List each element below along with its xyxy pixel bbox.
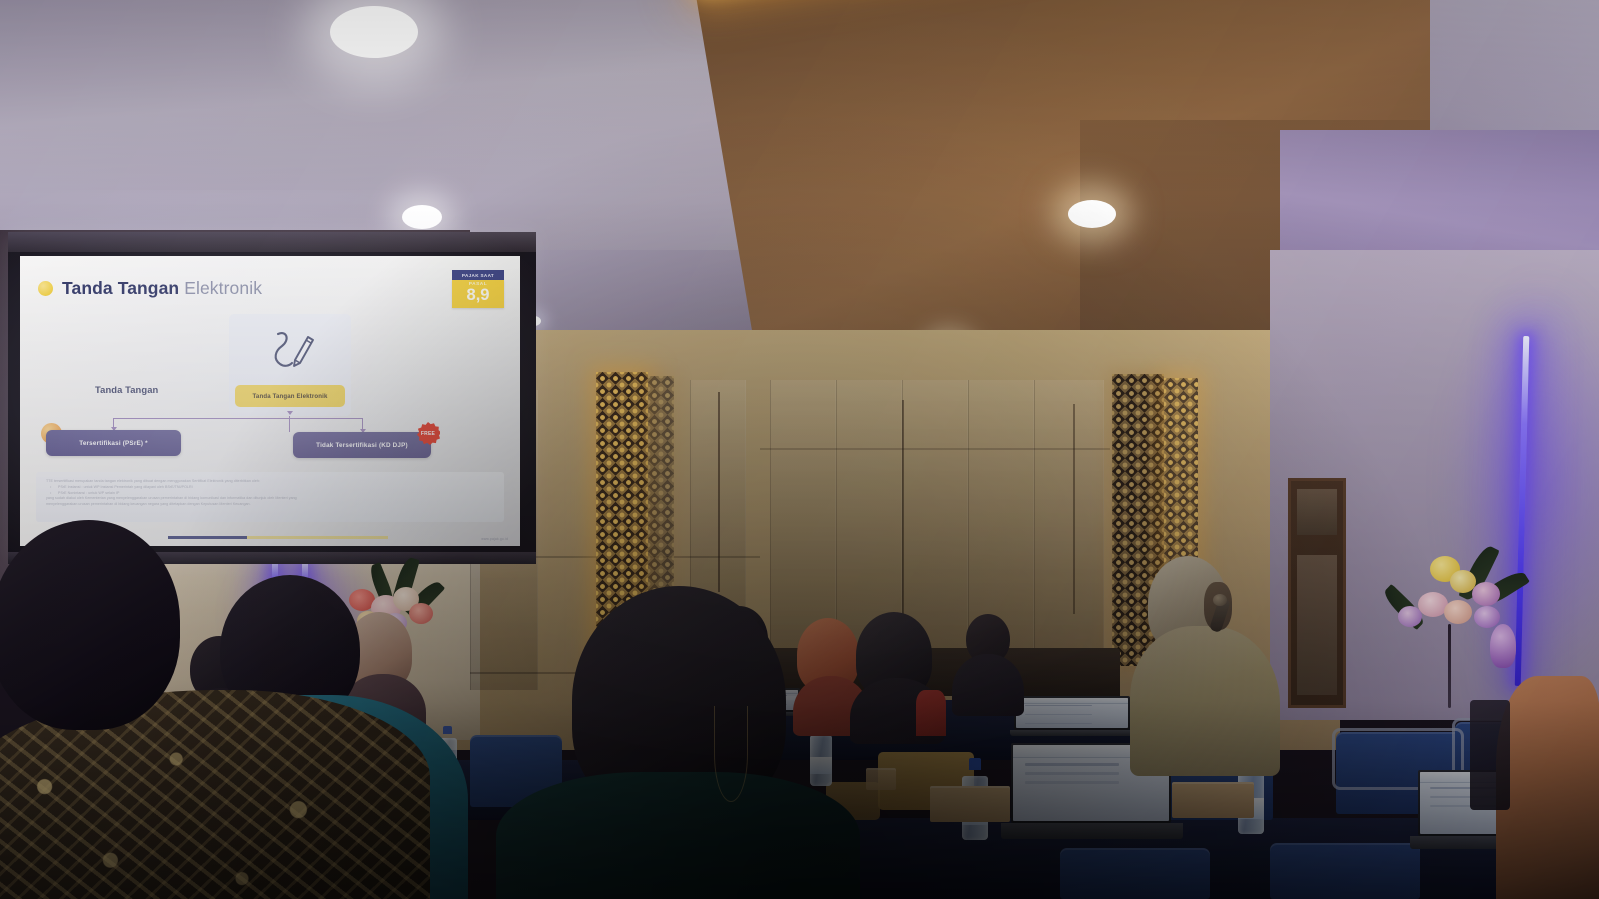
snack-box[interactable] bbox=[866, 768, 896, 790]
photographer-phone bbox=[1470, 700, 1510, 810]
slide-title: Tanda Tangan Elektronik bbox=[62, 278, 262, 299]
badge-top-label: PAJAK SAAT bbox=[452, 270, 504, 280]
laptop-base bbox=[1010, 730, 1134, 736]
screen-housing-top bbox=[8, 232, 536, 252]
laptop-back[interactable] bbox=[1014, 696, 1130, 736]
laptop-base bbox=[1001, 823, 1183, 839]
chair-blue[interactable] bbox=[1270, 843, 1420, 899]
laptop-lid bbox=[1014, 696, 1130, 730]
slide-badge: PAJAK SAAT PASAL 8,9 bbox=[452, 270, 504, 308]
branch-label: Tanda Tangan bbox=[95, 384, 158, 395]
signature-pen-icon bbox=[262, 326, 318, 378]
necklace-detail bbox=[714, 706, 748, 802]
slide-title-row: Tanda Tangan Elektronik bbox=[38, 278, 262, 299]
footnote-line: menyelenggarakan urusan pemerintahan di … bbox=[46, 502, 494, 508]
door-upper-glass bbox=[1297, 489, 1337, 535]
pendant-wire bbox=[1073, 404, 1075, 614]
flower-bloom bbox=[1490, 624, 1516, 668]
signature-card: Tanda Tangan Elektronik bbox=[229, 314, 351, 416]
wooden-door[interactable] bbox=[1288, 478, 1346, 708]
node-tidak-tersertifikasi: Tidak Tersertifikasi (KD DJP) bbox=[293, 432, 431, 458]
slide-title-bold: Tanda Tangan bbox=[62, 278, 179, 298]
seminar-room-photo: Tanda Tangan Elektronik PAJAK SAAT PASAL… bbox=[0, 0, 1599, 899]
flower-bloom bbox=[1398, 606, 1422, 627]
attendee-black-hijab-front bbox=[496, 586, 860, 899]
attendee-body bbox=[496, 772, 860, 899]
bottle-cap bbox=[969, 758, 981, 770]
flower-stem bbox=[1448, 624, 1451, 708]
attendee-head bbox=[0, 520, 180, 730]
speaker-presenter bbox=[1130, 556, 1290, 776]
flower-arrangement-right bbox=[1378, 540, 1528, 710]
wall-panel-seam bbox=[1034, 380, 1104, 660]
snack-box[interactable] bbox=[930, 786, 1010, 822]
progress-yellow-segment bbox=[247, 536, 388, 539]
chair-blue[interactable] bbox=[1060, 848, 1210, 899]
snack-box[interactable] bbox=[1172, 782, 1254, 818]
badge-number: 8,9 bbox=[452, 287, 504, 304]
yellow-bullet-icon bbox=[38, 281, 53, 296]
footnote-bullet: PSrE Nonintansi : untuk WP selain IP bbox=[46, 491, 494, 497]
projection-screen: Tanda Tangan Elektronik PAJAK SAAT PASAL… bbox=[8, 232, 536, 564]
connector-arrow-top bbox=[287, 411, 293, 415]
flower-bloom bbox=[1444, 600, 1472, 624]
microphone-head bbox=[1213, 594, 1227, 606]
photographer-hand bbox=[1496, 676, 1599, 899]
door-lower-glass bbox=[1297, 555, 1337, 695]
attendee-batik-head bbox=[0, 520, 200, 750]
pendant-wire bbox=[718, 392, 720, 592]
ceiling-downlight bbox=[1068, 200, 1116, 228]
attendee-black-hijab-back bbox=[850, 612, 944, 732]
presentation-slide: Tanda Tangan Elektronik PAJAK SAAT PASAL… bbox=[20, 256, 520, 546]
speaker-body bbox=[1130, 626, 1280, 776]
attendee-red-collar bbox=[916, 690, 946, 736]
slide-title-light: Elektronik bbox=[184, 278, 262, 298]
connector-horizontal bbox=[113, 418, 363, 419]
wall-reveal-line bbox=[760, 448, 1110, 450]
slide-url: www.pajak.go.id bbox=[481, 537, 508, 541]
ceiling-downlight bbox=[330, 6, 418, 58]
pendant-wire bbox=[902, 400, 904, 615]
ceiling-downlight bbox=[402, 205, 442, 229]
laptop-screen bbox=[1016, 698, 1128, 728]
flower-bloom bbox=[1474, 606, 1500, 628]
attendee-dark-shirt bbox=[952, 614, 1024, 714]
badge-body: PASAL 8,9 bbox=[452, 280, 504, 308]
signature-pill-label: Tanda Tangan Elektronik bbox=[235, 385, 345, 407]
slide-progress-bar bbox=[168, 536, 388, 539]
flower-bloom bbox=[1472, 582, 1500, 606]
attendee-body bbox=[952, 654, 1024, 716]
node-tersertifikasi: Tersertifikasi (PSrE) * bbox=[46, 430, 181, 456]
slide-footnote: TTE tersertifikasi merupakan tanda tanga… bbox=[36, 472, 504, 522]
